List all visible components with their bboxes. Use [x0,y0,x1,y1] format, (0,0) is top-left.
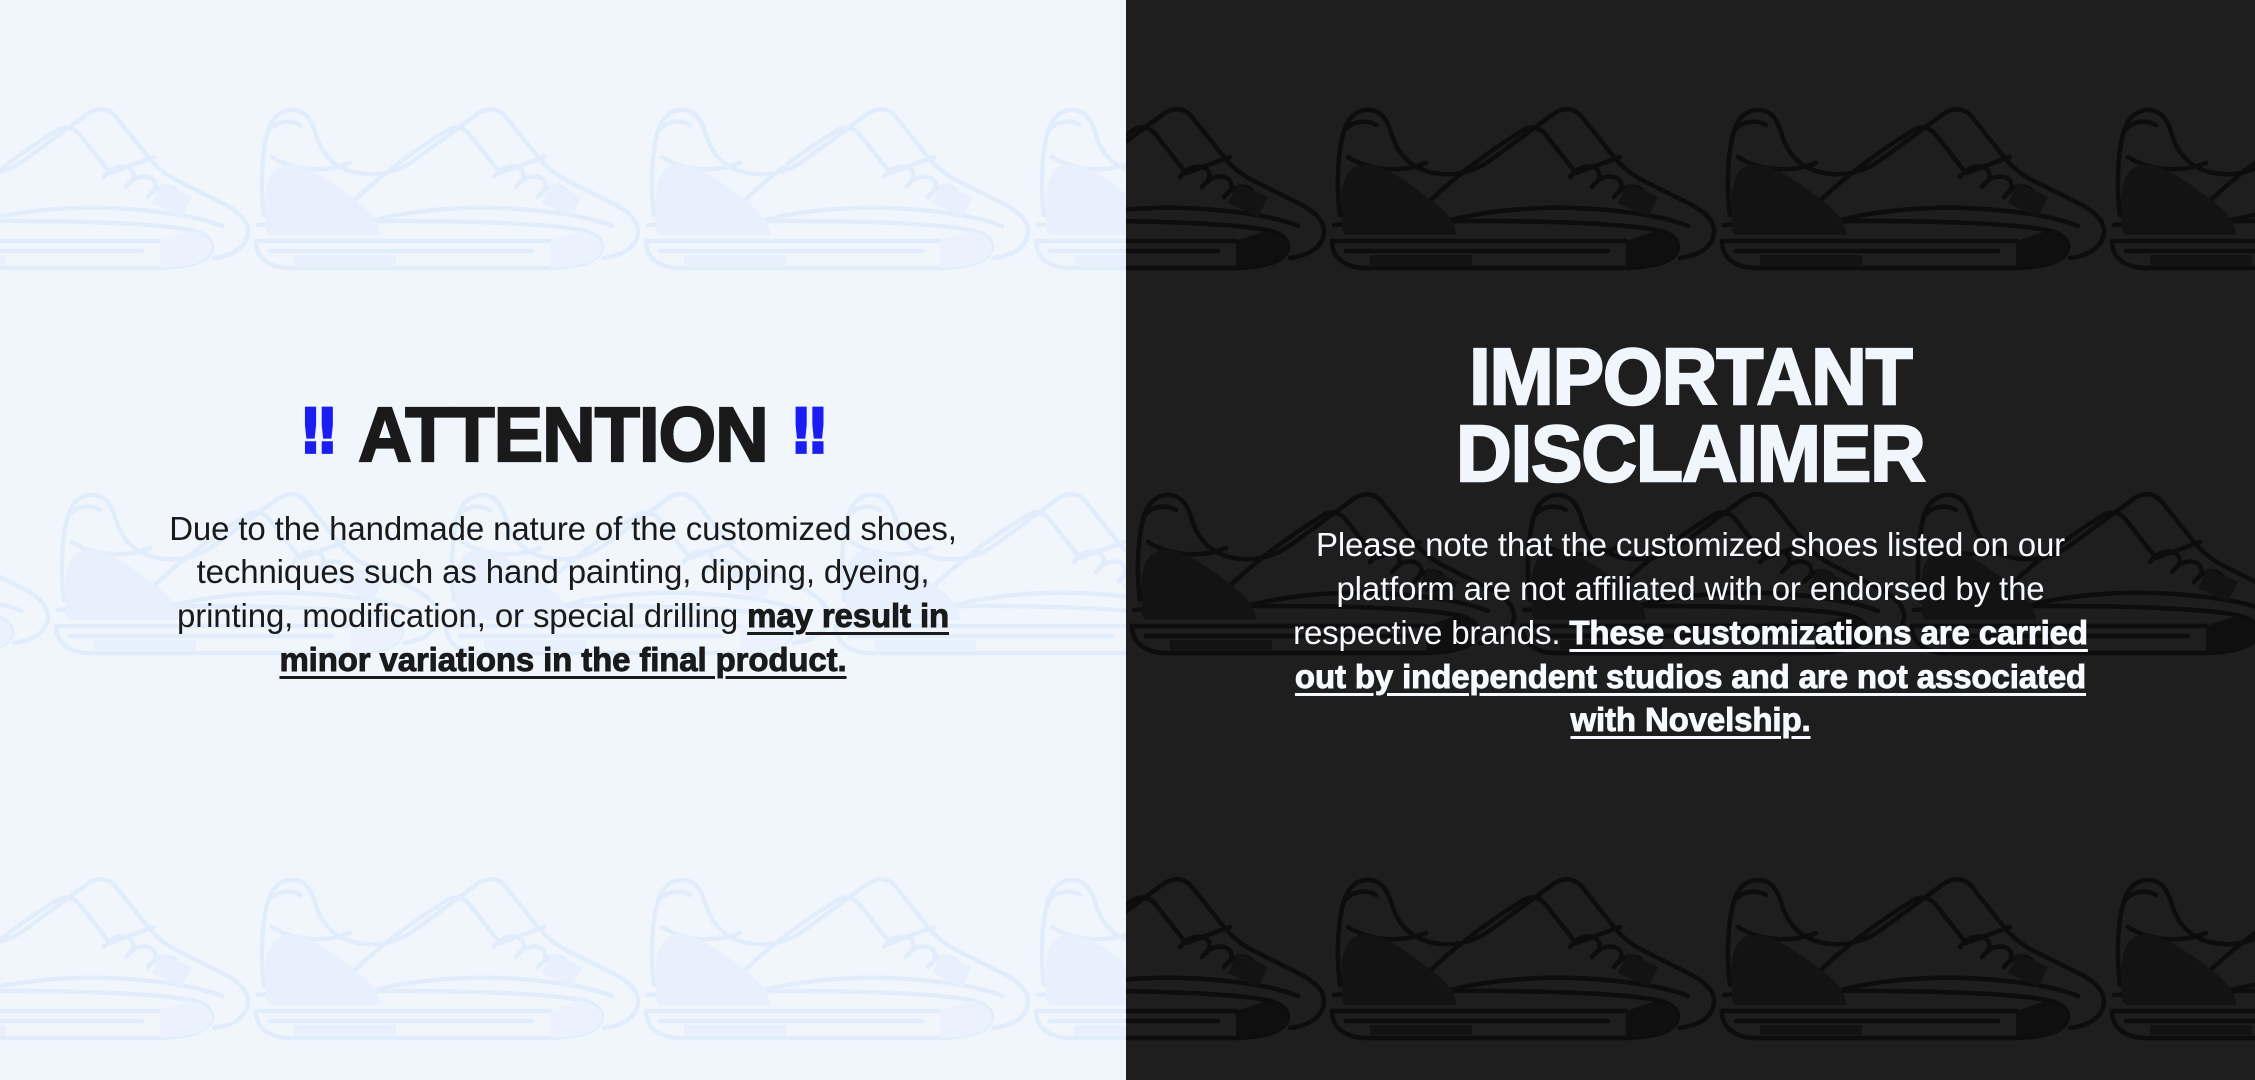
disclaimer-panel: IMPORTANT DISCLAIMER Please note that th… [1126,0,2255,1080]
attention-body: Due to the handmade nature of the custom… [168,507,958,683]
attention-heading-word: ATTENTION [358,398,767,473]
disclaimer-heading-line-1: IMPORTANT [1149,338,2233,416]
disclaimer-heading-line-2: DISCLAIMER [1149,415,2233,493]
double-exclamation-icon-right: ‼ [793,401,824,463]
disclaimer-body: Please note that the customized shoes li… [1291,523,2091,742]
disclaimer-heading: IMPORTANT DISCLAIMER [1149,338,2233,493]
disclaimer-content: IMPORTANT DISCLAIMER Please note that th… [1126,338,2255,743]
attention-heading: ‼ ATTENTION ‼ [23,398,1104,473]
attention-content: ‼ ATTENTION ‼ Due to the handmade nature… [0,398,1126,682]
attention-panel: ‼ ATTENTION ‼ Due to the handmade nature… [0,0,1126,1080]
double-exclamation-icon-left: ‼ [302,401,333,463]
split-banner: ‼ ATTENTION ‼ Due to the handmade nature… [0,0,2255,1080]
